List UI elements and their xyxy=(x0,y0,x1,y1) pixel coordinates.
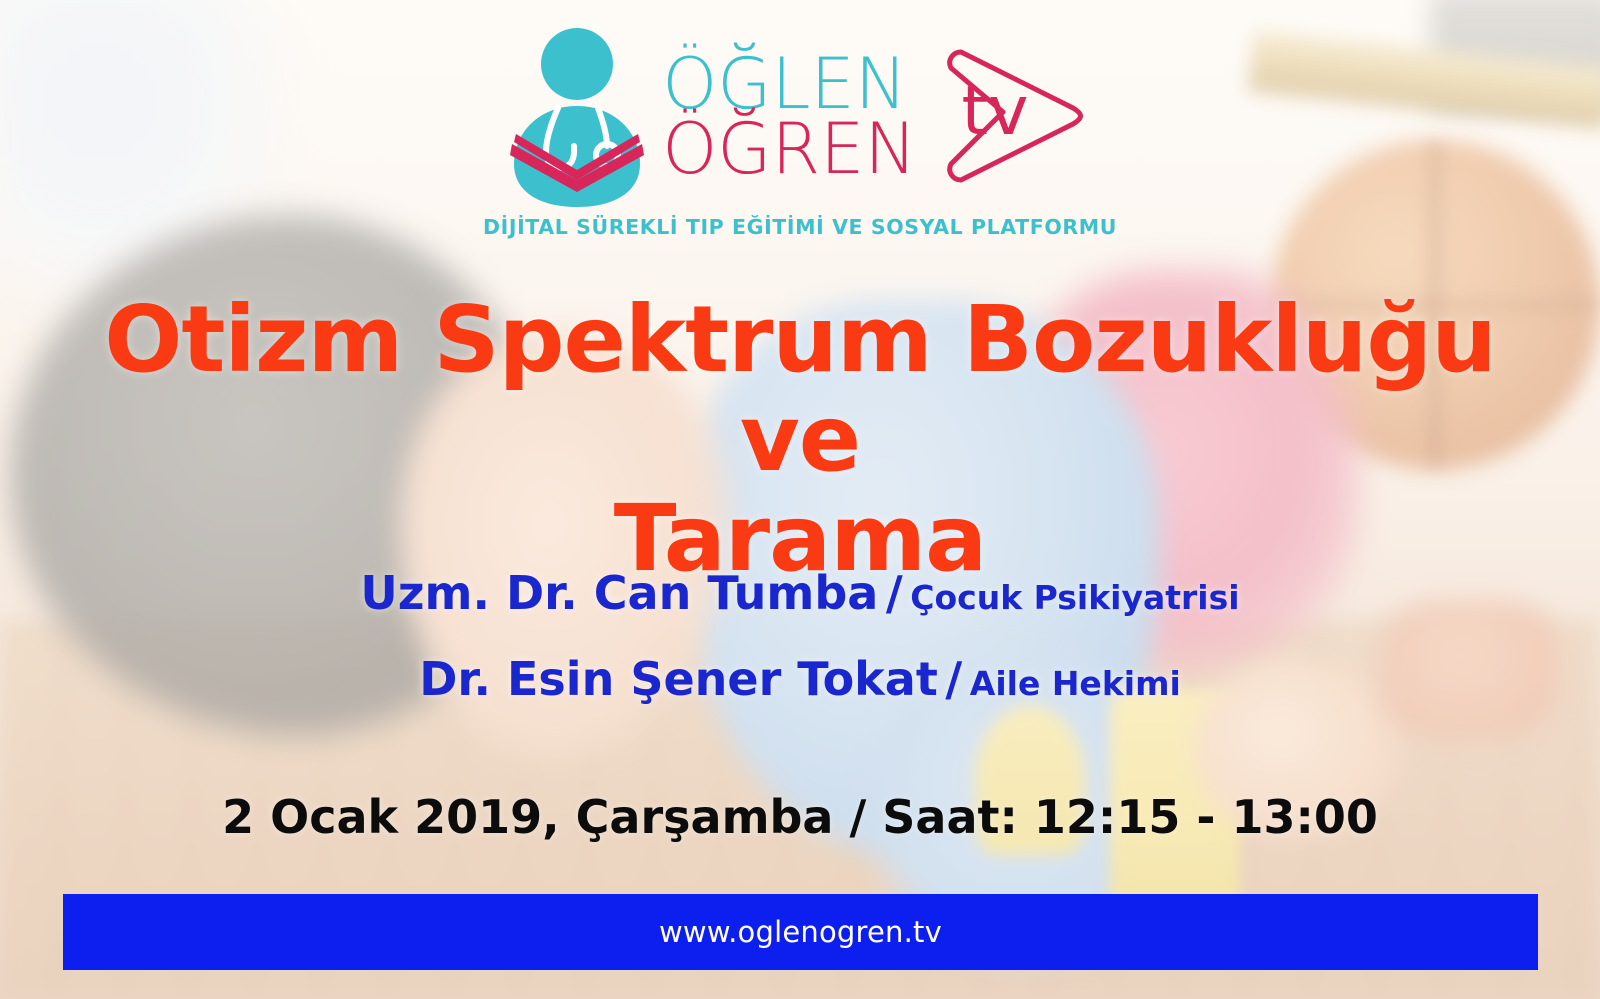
play-triangle-tv-icon: tv xyxy=(933,36,1098,196)
speaker-2-name: Dr. Esin Şener Tokat xyxy=(419,652,938,706)
doctor-with-open-book-icon xyxy=(502,22,652,207)
footer-bar: www.oglenogren.tv xyxy=(63,894,1538,970)
page-title-line-1: Otizm Spektrum Bozukluğu ve xyxy=(40,290,1560,489)
brand-wordmark: ÖĞLEN ÖĞREN xyxy=(662,52,917,181)
speaker-row-1: Uzm. Dr. Can Tumba / Çocuk Psikiyatrisi xyxy=(0,566,1600,620)
speaker-1-name: Uzm. Dr. Can Tumba xyxy=(360,566,878,620)
brand-word-ogren: ÖĞREN xyxy=(662,117,917,181)
speaker-1-separator: / xyxy=(884,566,905,620)
brand-logo: ÖĞLEN ÖĞREN tv DİJİTAL SÜREKLİ TIP EĞİTİ… xyxy=(0,22,1600,239)
brand-tagline: DİJİTAL SÜREKLİ TIP EĞİTİMİ VE SOSYAL PL… xyxy=(483,215,1117,239)
brand-word-oglen: ÖĞLEN xyxy=(662,52,917,116)
poster-content: ÖĞLEN ÖĞREN tv DİJİTAL SÜREKLİ TIP EĞİTİ… xyxy=(0,0,1600,999)
speakers-list: Uzm. Dr. Can Tumba / Çocuk Psikiyatrisi … xyxy=(0,566,1600,707)
page-title: Otizm Spektrum Bozukluğu ve Tarama xyxy=(40,290,1560,588)
website-url[interactable]: www.oglenogren.tv xyxy=(659,915,942,949)
event-datetime: 2 Ocak 2019, Çarşamba / Saat: 12:15 - 13… xyxy=(0,790,1600,844)
tv-label: tv xyxy=(961,72,1028,151)
speaker-2-separator: / xyxy=(943,652,964,706)
brand-logo-row: ÖĞLEN ÖĞREN tv xyxy=(502,22,1098,207)
webinar-poster: ÖĞLEN ÖĞREN tv DİJİTAL SÜREKLİ TIP EĞİTİ… xyxy=(0,0,1600,999)
speaker-row-2: Dr. Esin Şener Tokat / Aile Hekimi xyxy=(0,652,1600,706)
speaker-2-role: Aile Hekimi xyxy=(970,664,1181,703)
speaker-1-role: Çocuk Psikiyatrisi xyxy=(910,578,1239,617)
